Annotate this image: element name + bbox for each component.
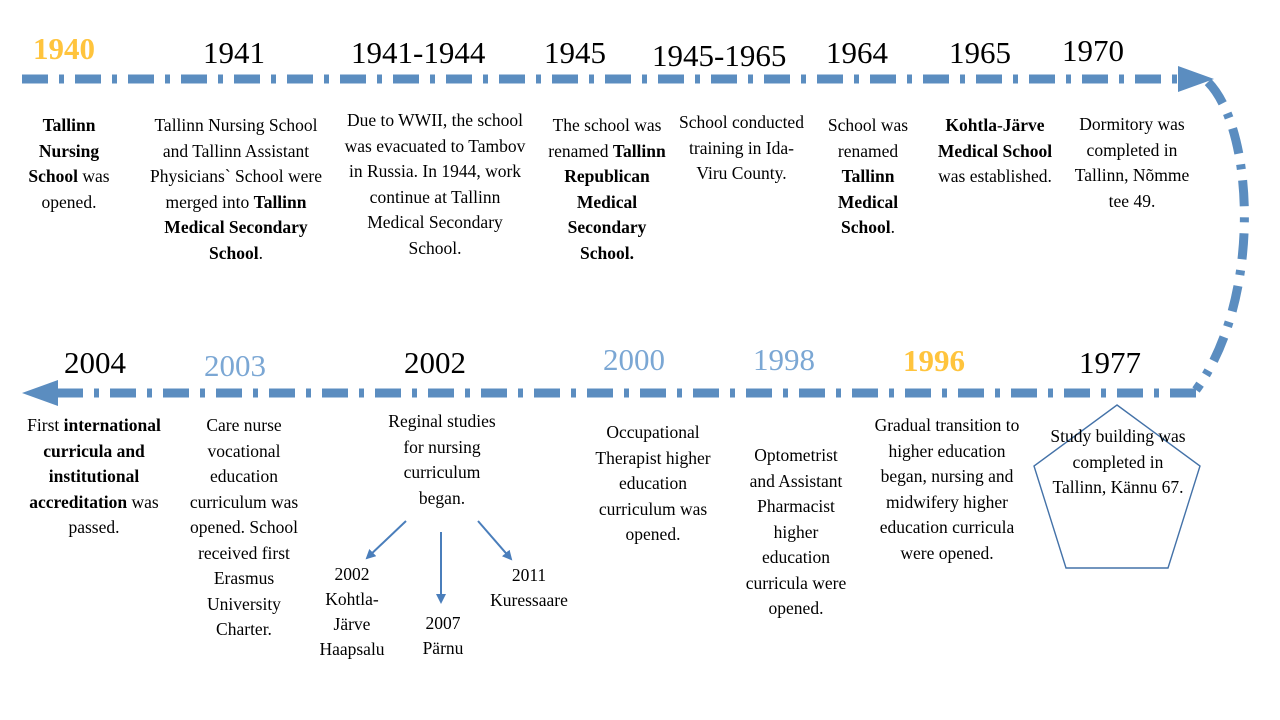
entry-text-1941-1944: Due to WWII, the school was evacuated to… bbox=[340, 108, 530, 261]
entry-text-1965: Kohtla-Järve Medical School was establis… bbox=[936, 113, 1054, 190]
year-label-1977[interactable]: 1977 bbox=[1079, 347, 1141, 378]
entry-text-1970: Dormitory was completed in Tallinn, Nõmm… bbox=[1064, 112, 1200, 214]
year-label-1945-1965[interactable]: 1945-1965 bbox=[652, 40, 786, 71]
year-label-2002[interactable]: 2002 bbox=[404, 347, 466, 378]
branch-arrow-down-left bbox=[367, 521, 406, 558]
year-label-1996[interactable]: 1996 bbox=[903, 345, 965, 376]
year-label-1941-1944[interactable]: 1941-1944 bbox=[351, 37, 485, 68]
branch-label-kuressaare: 2011 Kuressaare bbox=[478, 563, 580, 613]
year-label-1964[interactable]: 1964 bbox=[826, 37, 888, 68]
entry-text-2002: Reginal studies for nursing curriculum b… bbox=[385, 409, 499, 511]
entry-text-1941: Tallinn Nursing School and Tallinn Assis… bbox=[147, 113, 325, 266]
year-label-1998[interactable]: 1998 bbox=[753, 344, 815, 375]
year-label-2004[interactable]: 2004 bbox=[64, 347, 126, 378]
year-label-1940[interactable]: 1940 bbox=[33, 33, 95, 64]
entry-text-1945: The school was renamed Tallinn Republica… bbox=[546, 113, 668, 266]
timeline-canvas: 1940 1941 1941-1944 1945 1945-1965 1964 … bbox=[0, 0, 1280, 720]
entry-text-1998: Optometrist and Assistant Pharmacist hig… bbox=[742, 443, 850, 622]
arrow-right-icon bbox=[1178, 66, 1214, 92]
year-label-2000[interactable]: 2000 bbox=[603, 344, 665, 375]
entry-text-2000: Occupational Therapist higher education … bbox=[588, 420, 718, 548]
timeline-connector-curve bbox=[1196, 82, 1244, 390]
branch-label-kohtla-jarve-haapsalu: 2002 Kohtla-Järve Haapsalu bbox=[313, 562, 391, 661]
year-label-2003[interactable]: 2003 bbox=[204, 350, 266, 381]
year-label-1941[interactable]: 1941 bbox=[203, 37, 265, 68]
entry-text-1996: Gradual transition to higher education b… bbox=[874, 413, 1020, 566]
entry-text-1964: School was renamed Tallinn Medical Schoo… bbox=[818, 113, 918, 241]
entry-text-2003: Care nurse vocational education curricul… bbox=[188, 413, 300, 643]
entry-text-1945-1965: School conducted training in Ida-Viru Co… bbox=[679, 110, 804, 187]
year-label-1970[interactable]: 1970 bbox=[1062, 35, 1124, 66]
branch-label-parnu: 2007 Pärnu bbox=[408, 611, 478, 661]
entry-text-1940: Tallinn Nursing School was opened. bbox=[22, 113, 116, 215]
branch-arrow-down-right bbox=[478, 521, 511, 559]
arrow-left-icon bbox=[22, 380, 58, 406]
year-label-1945[interactable]: 1945 bbox=[544, 37, 606, 68]
year-label-1965[interactable]: 1965 bbox=[949, 37, 1011, 68]
pentagon-callout-text: Study building was completed in Tallinn,… bbox=[1047, 424, 1189, 501]
entry-text-2004: First international curricula and instit… bbox=[24, 413, 164, 541]
